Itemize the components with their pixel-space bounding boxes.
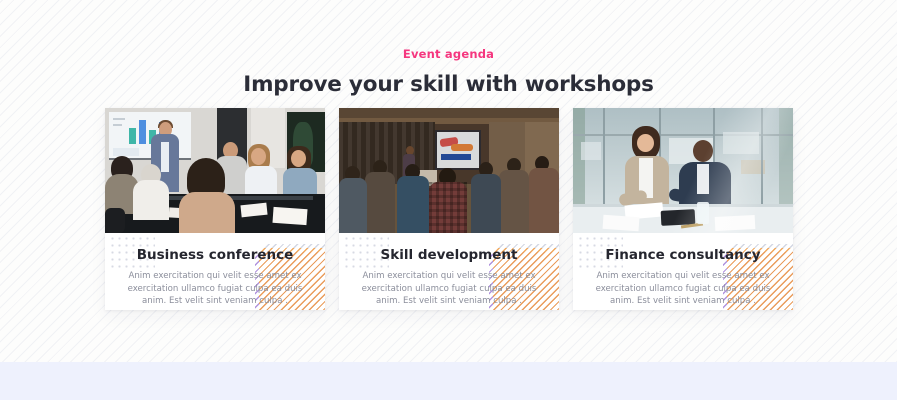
card-body: Finance consultancy Anim exercitation qu… <box>573 233 793 310</box>
card-description: Anim exercitation qui velit esse amet ex… <box>587 270 779 308</box>
card-body: Business conference Anim exercitation qu… <box>105 233 325 310</box>
section-header: Event agenda Improve your skill with wor… <box>0 0 897 116</box>
card-image-skill-development <box>339 108 559 233</box>
card-description: Anim exercitation qui velit esse amet ex… <box>119 270 311 308</box>
card-description: Anim exercitation qui velit esse amet ex… <box>353 270 545 308</box>
workshop-card[interactable]: Skill development Anim exercitation qui … <box>339 108 559 310</box>
card-image-business-conference <box>105 108 325 233</box>
workshop-card[interactable]: Business conference Anim exercitation qu… <box>105 108 325 310</box>
section-headline: Improve your skill with workshops <box>0 72 897 98</box>
workshop-card[interactable]: Finance consultancy Anim exercitation qu… <box>573 108 793 310</box>
workshop-card-list: Business conference Anim exercitation qu… <box>105 108 793 310</box>
footer-band <box>0 362 897 400</box>
card-image-finance-consultancy <box>573 108 793 233</box>
page-root: Event agenda Improve your skill with wor… <box>0 0 897 400</box>
card-title: Skill development <box>353 247 545 263</box>
card-title: Business conference <box>119 247 311 263</box>
card-body: Skill development Anim exercitation qui … <box>339 233 559 310</box>
section-eyebrow: Event agenda <box>0 47 897 61</box>
card-title: Finance consultancy <box>587 247 779 263</box>
